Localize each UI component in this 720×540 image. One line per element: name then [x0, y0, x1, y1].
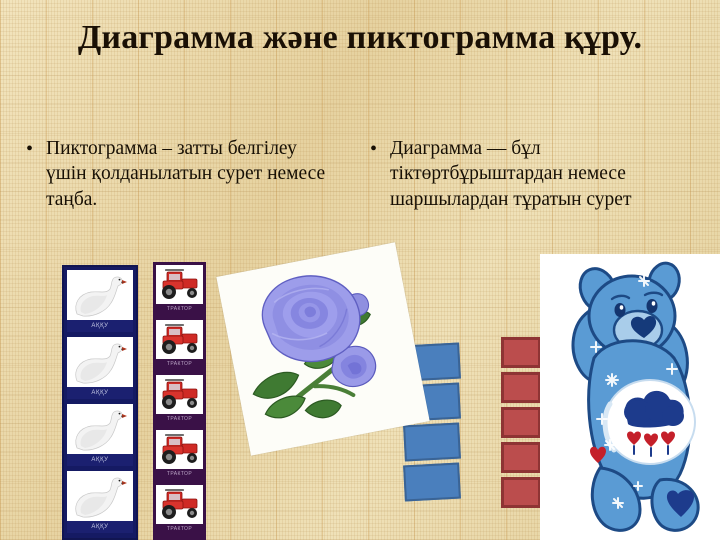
swan-icon [67, 404, 133, 454]
tractor-icon [156, 375, 203, 414]
bullet-item-pictogram: • Пиктограмма – затты белгілеу үшін қолд… [26, 136, 342, 212]
bullet-column-left: • Пиктограмма – затты белгілеу үшін қолд… [26, 136, 342, 212]
pictogram-caption: ТРАКТОР [156, 304, 203, 315]
pictogram-card-tractor: ТРАКТОР [156, 320, 203, 370]
tractor-icon [156, 320, 203, 359]
blue-rose-photo-card [216, 242, 429, 455]
pictogram-card-swan: АҚҚУ [67, 270, 133, 332]
pictogram-caption: ТРАКТОР [156, 414, 203, 425]
swan-icon [67, 270, 133, 320]
diagram-bar [403, 463, 461, 502]
bullet-text-pictogram: Пиктограмма – затты белгілеу үшін қолдан… [46, 136, 342, 212]
diagram-bar-stack-red [501, 337, 541, 512]
pictogram-caption: ТРАКТОР [156, 359, 203, 370]
bullet-marker-icon: • [26, 136, 46, 162]
pictogram-caption: ТРАКТОР [156, 469, 203, 480]
care-bear-card [540, 254, 720, 540]
pictogram-card-swan: АҚҚУ [67, 471, 133, 533]
tractor-icon [156, 485, 203, 524]
swan-icon [67, 471, 133, 521]
bullet-marker-icon: • [370, 136, 390, 162]
page-title: Диаграмма және пиктограмма құру. [18, 18, 702, 57]
pictogram-panel-swans: АҚҚУ АҚҚУ [62, 265, 138, 540]
pictogram-card-tractor: ТРАКТОР [156, 430, 203, 480]
pictogram-card-swan: АҚҚУ [67, 404, 133, 466]
pictogram-caption: АҚҚУ [67, 387, 133, 399]
tractor-icon [156, 430, 203, 469]
pictogram-caption: АҚҚУ [67, 320, 133, 332]
bullet-text-diagram: Диаграмма — бұл тіктөртбұрыштардан немес… [390, 136, 700, 212]
pictogram-caption: АҚҚУ [67, 454, 133, 466]
pictogram-card-swan: АҚҚУ [67, 337, 133, 399]
pictogram-card-tractor: ТРАКТОР [156, 375, 203, 425]
pictogram-caption: АҚҚУ [67, 521, 133, 533]
diagram-bar [501, 407, 541, 438]
diagram-bar [501, 442, 541, 473]
pictogram-card-tractor: ТРАКТОР [156, 485, 203, 535]
diagram-bar [501, 337, 541, 368]
pictogram-card-tractor: ТРАКТОР [156, 265, 203, 315]
pictogram-caption: ТРАКТОР [156, 524, 203, 535]
diagram-bar [403, 423, 461, 462]
pictogram-panel-tractors: ТРАКТОР ТРАКТОР [153, 262, 206, 540]
diagram-bar [501, 372, 541, 403]
bullet-column-right: • Диаграмма — бұл тіктөртбұрыштардан нем… [370, 136, 700, 212]
care-bear-icon [540, 254, 720, 540]
blue-rose-icon [221, 245, 426, 453]
bullet-item-diagram: • Диаграмма — бұл тіктөртбұрыштардан нем… [370, 136, 700, 212]
swan-icon [67, 337, 133, 387]
slide-canvas: Диаграмма және пиктограмма құру. • Пикто… [0, 0, 720, 540]
tractor-icon [156, 265, 203, 304]
diagram-bar [501, 477, 541, 508]
